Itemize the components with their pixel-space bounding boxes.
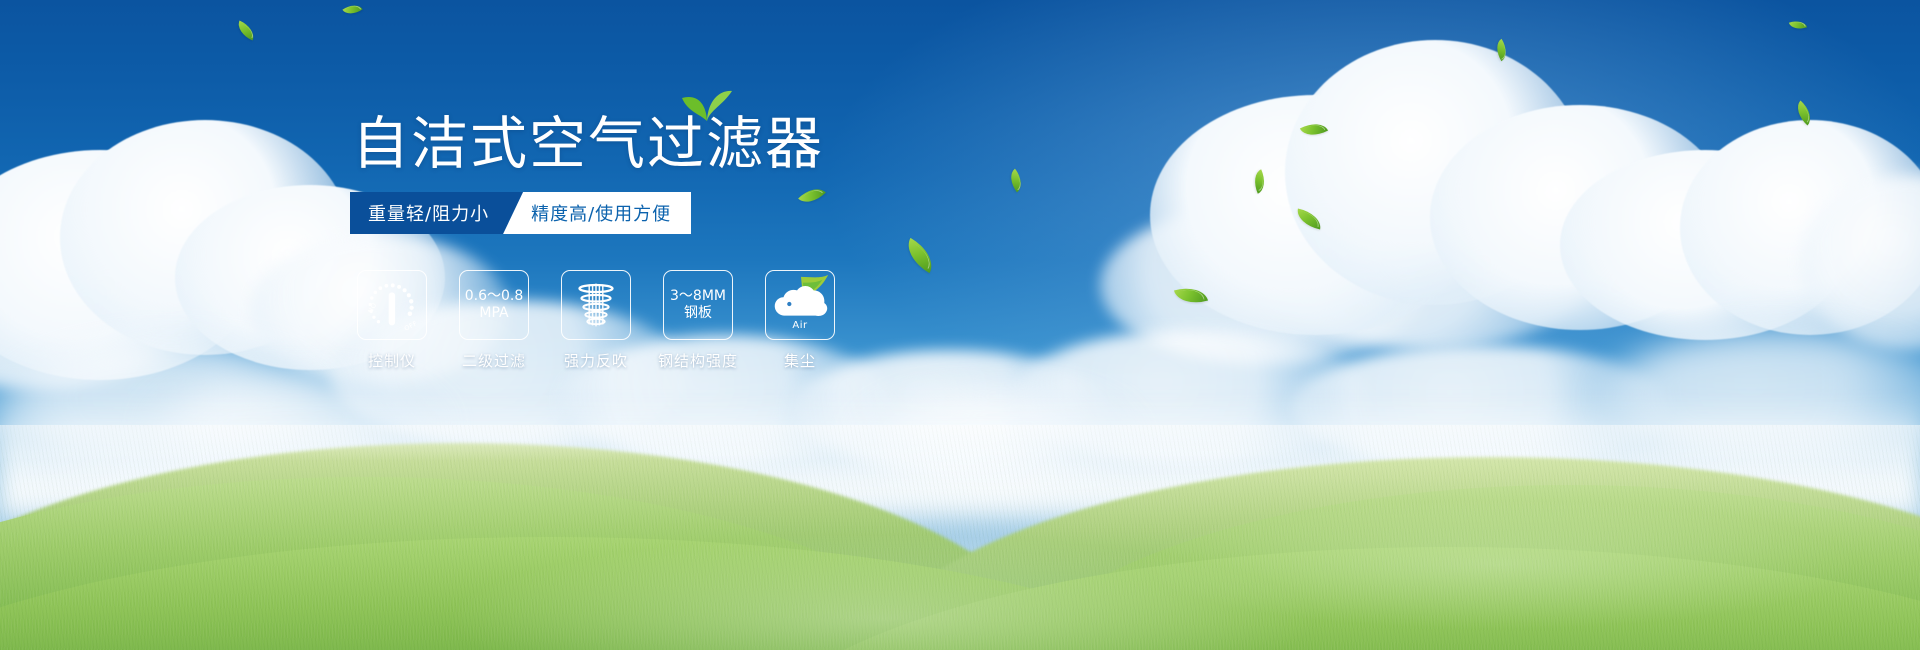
feature-line1: 0.6～0.8 bbox=[465, 288, 524, 304]
banner-content: 自洁式空气过滤器 重量轻/阻力小 精度高/使用方便 bbox=[0, 0, 1920, 650]
feature-line2: 钢板 bbox=[670, 305, 726, 322]
badge-feature-2: 精度高/使用方便 bbox=[503, 192, 691, 234]
feature-item-steel: 3～8MM 钢板 钢结构强度 bbox=[663, 270, 733, 371]
feature-item-dust: Air 集尘 bbox=[765, 270, 835, 371]
cloud-air-caption: Air bbox=[766, 320, 834, 331]
feature-item-controller: NO OFF 控制仪 bbox=[357, 270, 427, 371]
cloud-air-icon: Air bbox=[765, 270, 835, 340]
steel-plate-text-icon: 3～8MM 钢板 bbox=[663, 270, 733, 340]
feature-label: 钢结构强度 bbox=[658, 350, 738, 371]
gauge-icon: NO OFF bbox=[357, 270, 427, 340]
feature-line1: 3～8MM bbox=[670, 288, 726, 304]
pressure-text-icon: 0.6～0.8 MPA bbox=[459, 270, 529, 340]
feature-item-filtration: 0.6～0.8 MPA 二级过滤 bbox=[459, 270, 529, 371]
badge-feature-1: 重量轻/阻力小 bbox=[350, 192, 523, 234]
feature-label: 集尘 bbox=[784, 350, 816, 371]
feature-icon-row: NO OFF 控制仪 0.6～0.8 MPA 二级过滤 bbox=[357, 270, 835, 371]
air-blowback-icon bbox=[561, 270, 631, 340]
feature-label: 控制仪 bbox=[368, 350, 416, 371]
hero-banner: 自洁式空气过滤器 重量轻/阻力小 精度高/使用方便 bbox=[0, 0, 1920, 650]
badge-bar: 重量轻/阻力小 精度高/使用方便 bbox=[350, 192, 691, 234]
feature-line2: MPA bbox=[465, 305, 524, 322]
page-title: 自洁式空气过滤器 bbox=[352, 113, 824, 175]
feature-label: 强力反吹 bbox=[564, 350, 628, 371]
feature-item-blowback: 强力反吹 bbox=[561, 270, 631, 371]
feature-label: 二级过滤 bbox=[462, 350, 526, 371]
